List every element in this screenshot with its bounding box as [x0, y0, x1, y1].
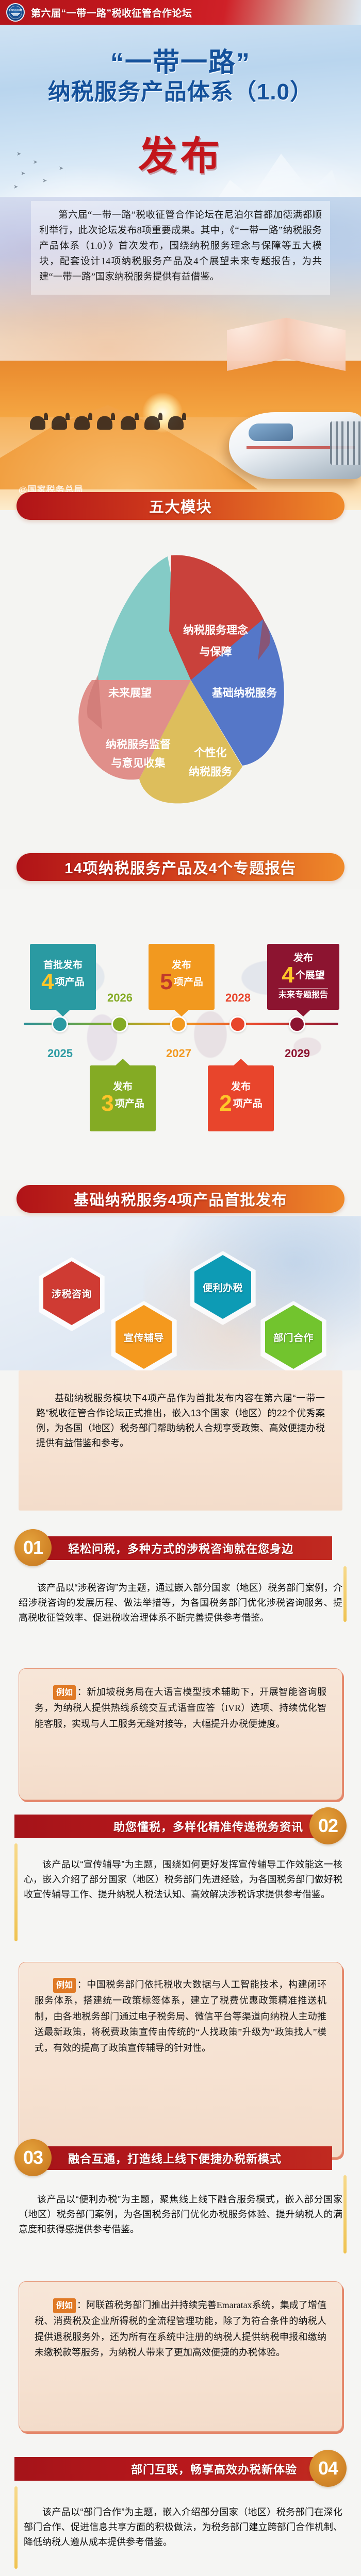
timeline-dot-2027[interactable] — [170, 1016, 187, 1032]
section-02-accent — [14, 1843, 18, 1941]
timeline-year-2026: 2026 — [107, 991, 133, 1005]
basic-intro-paragraph: 基础纳税服务模块下4项产品作为首批发布内容在第六届“一带一路”税收征管合作论坛正… — [36, 1391, 325, 1451]
roadmap-timeline — [0, 889, 361, 1180]
pinwheel-label-personalized-2: 纳税服务 — [189, 766, 233, 778]
intro-paragraph: 第六届“一带一路”税收征管合作论坛在尼泊尔首都加德满都顺利举行，此次论坛发布8项… — [39, 208, 322, 285]
hero-title-line1: “一带一路” — [0, 48, 361, 77]
timeline-year-2025: 2025 — [47, 1047, 73, 1060]
timeline-card-2027-unit: 项产品 — [174, 977, 203, 987]
section-04-accent — [14, 2486, 18, 2569]
section-01-body: 该产品以“涉税咨询”为主题，通过嵌入部分国家（地区）税务部门案例，介绍涉税咨询的… — [19, 1581, 342, 1625]
timeline-dot-2028[interactable] — [229, 1016, 246, 1032]
timeline-card-2028-num: 2 — [219, 1092, 232, 1115]
section-pill-basic: 基础纳税服务4项产品首批发布 — [17, 1185, 344, 1213]
timeline-card-2029-top: 发布 — [293, 953, 313, 964]
timeline-dot-2026[interactable] — [111, 1016, 128, 1032]
britacom-logo-icon: BRITACOM — [6, 3, 25, 22]
pinwheel-label-supervision-1: 纳税服务监督 — [106, 738, 171, 751]
hex-label-tax-consultation: 涉税咨询 — [52, 1286, 92, 1300]
section-header-02: 助您懂税，多样化精准传递税务资讯 02 — [0, 1807, 361, 1844]
section-04-title: 部门互联，畅享高效办税新体验 — [131, 2461, 297, 2477]
section-01-example-tag: 例如 — [53, 1685, 76, 1700]
section-04-body-wrap: 该产品以“部门合作”为主题，嵌入介绍部分国家（地区）税务部门在深化部门合作、促进… — [24, 2505, 342, 2550]
timeline-card-2026-top: 发布 — [113, 1082, 133, 1093]
section-03-example-tag: 例如 — [53, 2298, 76, 2313]
pill-modules-label: 五大模块 — [149, 495, 212, 517]
section-02-bar: 助您懂税，多样化精准传递税务资讯 — [14, 1815, 324, 1838]
timeline-dot-2025[interactable] — [52, 1016, 68, 1032]
section-04-bar: 部门互联，畅享高效办税新体验 — [14, 2457, 324, 2481]
section-03-number-badge: 03 — [14, 2139, 52, 2176]
timeline-card-2025-unit: 项产品 — [55, 977, 85, 987]
timeline-card-2029-unit: 个展望 — [296, 971, 325, 980]
timeline-card-2027-top: 发布 — [172, 960, 191, 971]
timeline-card-2027[interactable]: 发布 5 项产品 — [149, 944, 215, 1010]
timeline-card-2028-unit: 项产品 — [233, 1099, 262, 1109]
intro-card: 第六届“一带一路”税收征管合作论坛在尼泊尔首都加德满都顺利举行，此次论坛发布8项… — [31, 201, 330, 295]
hex-label-publicity-guidance: 宣传辅导 — [124, 1330, 164, 1344]
pinwheel-svg: 纳税服务理念 与保障 基础纳税服务 个性化 纳税服务 纳税服务监督 与意见收集 … — [36, 526, 325, 835]
hero-title-line2: 纳税服务产品体系（1.0） — [0, 79, 361, 105]
timeline-year-2029: 2029 — [285, 1047, 310, 1060]
section-03-body: 该产品以“便利办税”为主题，聚焦线上线下融合服务模式，嵌入部分国家（地区）税务部… — [19, 2192, 342, 2237]
section-03-example-wrap: 例如：阿联酋税务部门推出并持续完善Emaratax系统，集成了增值税、消费税及企… — [35, 2297, 326, 2361]
pinwheel-label-personalized-1: 个性化 — [194, 747, 227, 759]
section-02-body-wrap: 该产品以“宣传辅导”为主题，围绕如何更好发挥宣传辅导工作效能这一核心，嵌入介绍了… — [24, 1857, 342, 1902]
timeline-card-2025[interactable]: 首批发布 4 项产品 — [30, 944, 96, 1010]
section-02-body: 该产品以“宣传辅导”为主题，围绕如何更好发挥宣传辅导工作效能这一核心，嵌入介绍了… — [24, 1857, 342, 1902]
timeline-card-2026-num: 3 — [101, 1092, 113, 1115]
section-01-body-wrap: 该产品以“涉税咨询”为主题，通过嵌入部分国家（地区）税务部门案例，介绍涉税咨询的… — [19, 1581, 342, 1625]
section-03-example: ：阿联酋税务部门推出并持续完善Emaratax系统，集成了增值税、消费税及企业所… — [35, 2300, 326, 2358]
hex-label-department-cooperation: 部门合作 — [273, 1330, 314, 1344]
section-header-03: 融合互通，打造线上线下便捷办税新模式 03 — [0, 2139, 361, 2176]
section-03-title: 融合互通，打造线上线下便捷办税新模式 — [68, 2150, 282, 2166]
basic-intro-card: 基础纳税服务模块下4项产品作为首批发布内容在第六届“一带一路”税收征管合作论坛正… — [19, 1370, 342, 1511]
section-01-example-card: 例如：新加坡税务局在大语言模型技术辅助下，开展智能咨询服务，为纳税人提供热线系统… — [19, 1668, 342, 1800]
timeline-card-2029-sub: 未来专题报告 — [278, 988, 328, 1000]
pinwheel-label-supervision-2: 与意见收集 — [111, 757, 166, 769]
section-01-example: ：新加坡税务局在大语言模型技术辅助下，开展智能咨询服务，为纳税人提供热线系统交互… — [35, 1687, 326, 1729]
logo-text: BRITACOM — [9, 9, 22, 11]
timeline-card-2029-num: 4 — [282, 964, 294, 987]
section-02-example-tag: 例如 — [53, 1978, 76, 1993]
timeline-card-2027-num: 5 — [160, 971, 172, 993]
four-products-hex-area: 涉税咨询 宣传辅导 便利办税 部门合作 — [0, 1216, 361, 1370]
high-speed-train — [229, 412, 361, 479]
pinwheel-label-future: 未来展望 — [108, 687, 152, 699]
section-01-title: 轻松问税，多种方式的涉税咨询就在您身边 — [68, 1540, 293, 1556]
section-03-example-card: 例如：阿联酋税务部门推出并持续完善Emaratax系统，集成了增值税、消费税及企… — [19, 2281, 342, 2432]
section-01-bar: 轻松问税，多种方式的涉税咨询就在您身边 — [19, 1536, 332, 1560]
pinwheel-label-basic: 基础纳税服务 — [212, 687, 277, 699]
timeline-card-2028[interactable]: 发布 2 项产品 — [208, 1065, 274, 1131]
timeline-card-2026-unit: 项产品 — [115, 1099, 144, 1109]
camel-caravan — [30, 401, 200, 430]
pill-products-label: 14项纳税服务产品及4个专题报告 — [64, 856, 296, 878]
section-pill-products: 14项纳税服务产品及4个专题报告 — [17, 853, 344, 881]
timeline-card-2029[interactable]: 发布 4 个展望 未来专题报告 — [267, 944, 339, 1010]
section-02-example-wrap: 例如：中国税务部门依托税收大数据与人工智能技术，构建闭环服务体系，搭建统一政策标… — [35, 1977, 326, 2056]
section-02-number: 02 — [318, 1815, 338, 1837]
section-02-example: ：中国税务部门依托税收大数据与人工智能技术，构建闭环服务体系，搭建统一政策标签体… — [35, 1979, 326, 2053]
section-03-body-wrap: 该产品以“便利办税”为主题，聚焦线上线下融合服务模式，嵌入部分国家（地区）税务部… — [19, 2192, 342, 2237]
section-04-number-badge: 04 — [309, 2450, 347, 2487]
hex-label-convenient-tax: 便利办税 — [203, 1280, 243, 1294]
section-03-bar: 融合互通，打造线上线下便捷办税新模式 — [19, 2146, 332, 2170]
section-02-example-card: 例如：中国税务部门依托税收大数据与人工智能技术，构建闭环服务体系，搭建统一政策标… — [19, 1962, 342, 2158]
infographic-page: BRITACOM 第六届“一带一路”税收征管合作论坛 ➤ ➤ ➤ ➤ ➤ ➤ “… — [0, 0, 361, 2576]
timeline-year-2027: 2027 — [166, 1047, 191, 1060]
timeline-year-2028: 2028 — [225, 991, 251, 1005]
section-04-body: 该产品以“部门合作”为主题，嵌入介绍部分国家（地区）税务部门在深化部门合作、促进… — [24, 2505, 342, 2550]
timeline-card-2028-top: 发布 — [231, 1082, 251, 1093]
five-modules-pinwheel: 纳税服务理念 与保障 基础纳税服务 个性化 纳税服务 纳税服务监督 与意见收集 … — [0, 526, 361, 835]
section-03-number: 03 — [23, 2147, 43, 2168]
section-02-number-badge: 02 — [309, 1807, 347, 1844]
timeline-card-2025-num: 4 — [41, 971, 54, 993]
section-04-number: 04 — [318, 2458, 338, 2479]
section-header-01: 轻松问税，多种方式的涉税咨询就在您身边 01 — [0, 1529, 361, 1566]
timeline-dot-2029[interactable] — [289, 1016, 305, 1032]
section-01-number-badge: 01 — [14, 1529, 52, 1566]
pinwheel-label-concept-2: 与保障 — [200, 646, 232, 658]
pinwheel-label-concept-1: 纳税服务理念 — [183, 624, 248, 636]
section-02-title: 助您懂税，多样化精准传递税务资讯 — [113, 1818, 303, 1835]
hero-banner: ➤ ➤ ➤ ➤ ➤ ➤ “一带一路” 纳税服务产品体系（1.0） 发布 — [0, 25, 361, 226]
forum-title: 第六届“一带一路”税收征管合作论坛 — [31, 6, 192, 20]
silk-road-photo: @国家税务总局 — [0, 361, 361, 510]
timeline-card-2026[interactable]: 发布 3 项产品 — [90, 1065, 156, 1131]
section-03-accent — [343, 2175, 347, 2253]
forum-header-bar: BRITACOM 第六届“一带一路”税收征管合作论坛 — [0, 0, 361, 25]
section-01-example-wrap: 例如：新加坡税务局在大语言模型技术辅助下，开展智能咨询服务，为纳税人提供热线系统… — [35, 1684, 326, 1732]
hero-release-stamp: 发布 — [0, 137, 361, 176]
pill-basic-label: 基础纳税服务4项产品首批发布 — [74, 1188, 287, 1210]
section-header-04: 部门互联，畅享高效办税新体验 04 — [0, 2450, 361, 2487]
section-pill-modules: 五大模块 — [17, 492, 344, 520]
section-01-number: 01 — [23, 1537, 43, 1558]
section-01-accent — [343, 1566, 347, 1622]
